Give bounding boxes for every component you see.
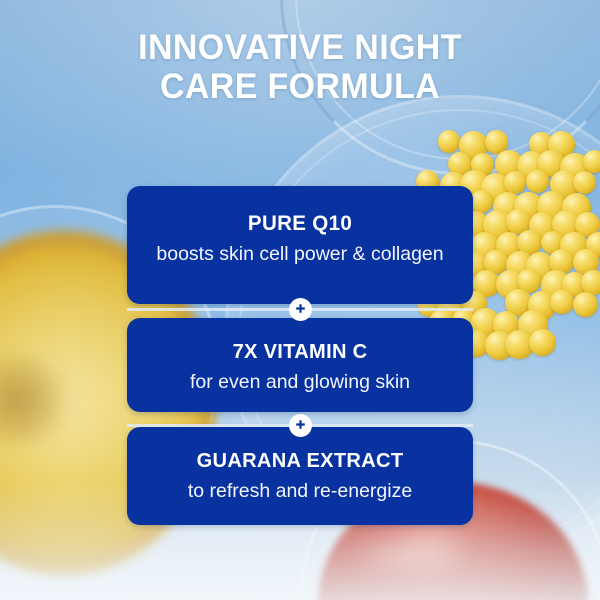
benefit-card-pure-q10: PURE Q10 boosts skin cell power & collag… [127,186,473,304]
headline-line-1: INNOVATIVE NIGHT [9,28,591,67]
benefit-title: PURE Q10 [146,212,454,236]
benefit-card-guarana-extract: GUARANA EXTRACT to refresh and re-energi… [127,427,473,525]
benefit-description: to refresh and re-energize [143,480,457,503]
headline-line-2: CARE FORMULA [9,67,591,106]
benefit-title: GUARANA EXTRACT [146,449,454,473]
benefit-title: 7X VITAMIN C [146,340,454,364]
page-title: INNOVATIVE NIGHT CARE FORMULA [9,28,591,106]
plus-icon [289,414,312,437]
benefit-description: for even and glowing skin [143,371,457,394]
plus-icon [289,298,312,321]
benefit-card-list: PURE Q10 boosts skin cell power & collag… [127,186,473,525]
benefit-card-7x-vitamin-c: 7X VITAMIN C for even and glowing skin [127,318,473,412]
product-benefits-poster: INNOVATIVE NIGHT CARE FORMULA PURE Q10 b… [0,0,600,600]
benefit-description: boosts skin cell power & collagen [143,243,457,266]
poster-content: INNOVATIVE NIGHT CARE FORMULA PURE Q10 b… [0,0,600,600]
